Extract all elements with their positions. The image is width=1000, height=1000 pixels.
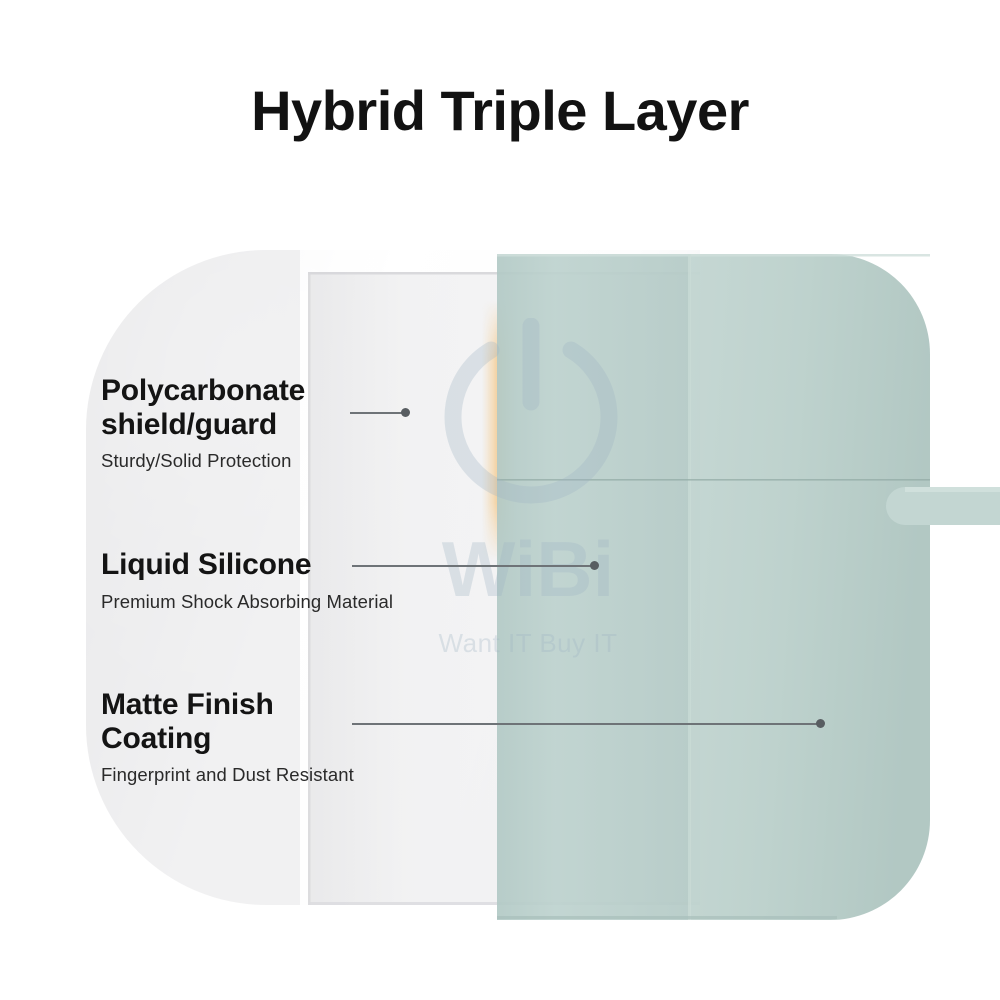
callout-title-polycarbonate: Polycarbonate shield/guard <box>101 374 305 441</box>
callout-matte-finish: Matte Finish Coating Fingerprint and Dus… <box>101 688 354 786</box>
leader-line-polycarbonate <box>350 412 405 414</box>
leader-dot-liquid-silicone <box>590 561 599 570</box>
callout-title-liquid-silicone: Liquid Silicone <box>101 548 393 582</box>
infographic-canvas: WiBi Want IT Buy IT Hybrid Triple Layer … <box>0 0 1000 1000</box>
leader-dot-matte-finish <box>816 719 825 728</box>
callout-liquid-silicone: Liquid Silicone Premium Shock Absorbing … <box>101 548 393 613</box>
callout-title-matte-finish: Matte Finish Coating <box>101 688 354 755</box>
callout-polycarbonate: Polycarbonate shield/guard Sturdy/Solid … <box>101 374 305 472</box>
leader-dot-polycarbonate <box>401 408 410 417</box>
keychain-loop-tab <box>886 487 1000 525</box>
product-illustration <box>0 0 1000 1000</box>
callout-subtitle-liquid-silicone: Premium Shock Absorbing Material <box>101 591 393 613</box>
leader-line-matte-finish <box>352 723 820 725</box>
callout-subtitle-matte-finish: Fingerprint and Dust Resistant <box>101 764 354 786</box>
layer-matte-finish-coating <box>497 254 930 920</box>
page-title: Hybrid Triple Layer <box>0 78 1000 143</box>
callout-subtitle-polycarbonate: Sturdy/Solid Protection <box>101 450 305 472</box>
